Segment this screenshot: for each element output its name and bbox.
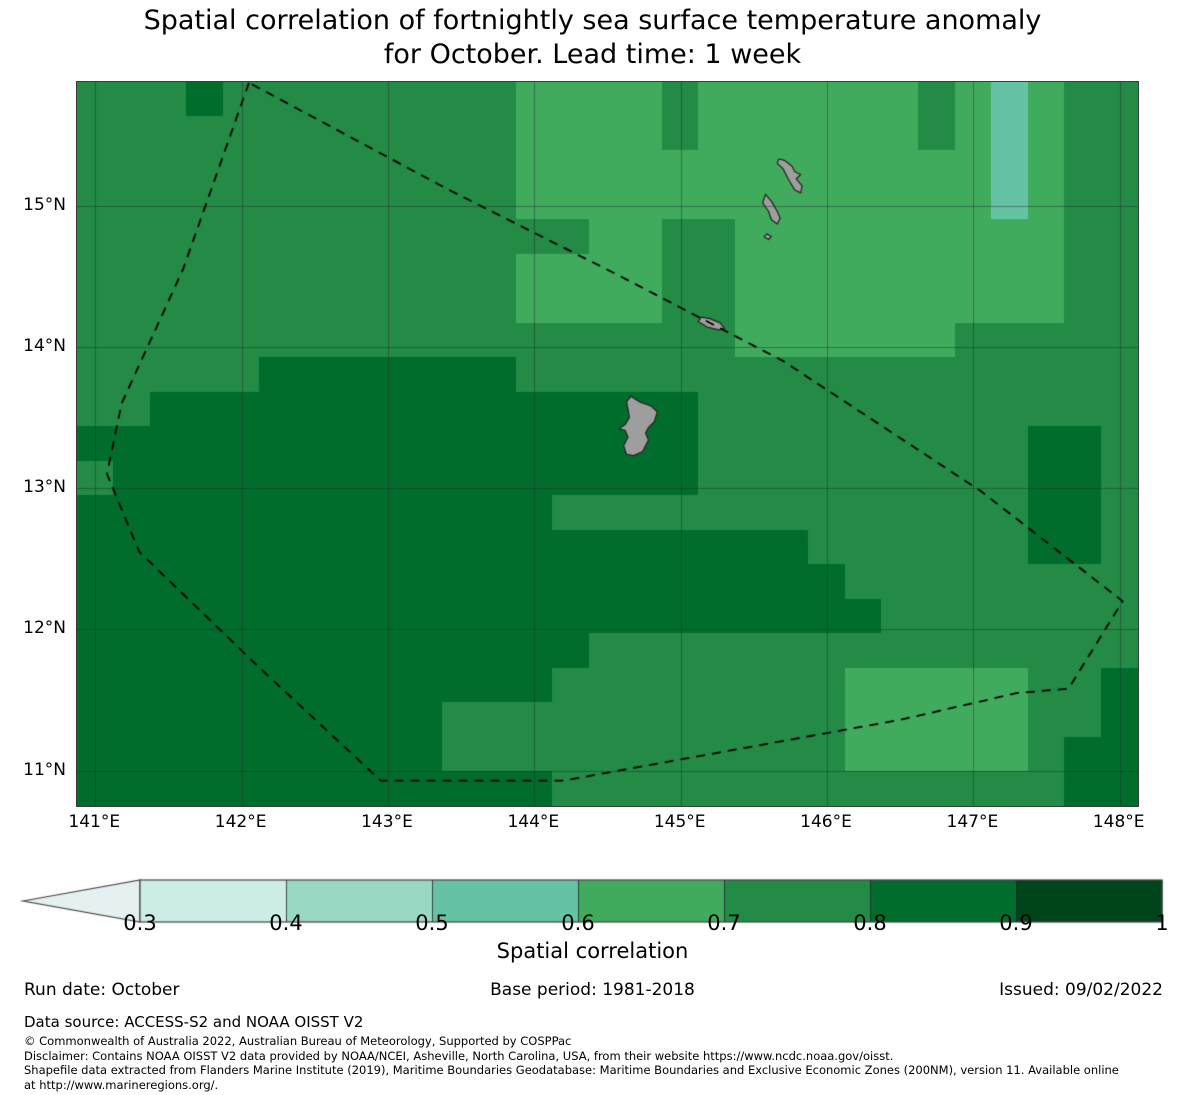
colorbar-tick-1: 1 [1155, 911, 1168, 935]
metadata-row: Run date: October Base period: 1981-2018… [0, 980, 1185, 1010]
colorbar-tick-0.5: 0.5 [415, 911, 448, 935]
colorbar-tick-0.4: 0.4 [269, 911, 302, 935]
y-axis-tick-15°N: 15°N [23, 195, 66, 215]
data-source: Data source: ACCESS-S2 and NOAA OISST V2 [24, 1013, 363, 1031]
x-axis-tick-145°E: 145°E [654, 812, 706, 832]
x-axis-tick-144°E: 144°E [507, 812, 559, 832]
colorbar-tick-0.9: 0.9 [999, 911, 1032, 935]
disclaimer-text: © Commonwealth of Australia 2022, Austra… [24, 1034, 1119, 1092]
y-axis-tick-14°N: 14°N [23, 336, 66, 356]
colorbar[interactable]: 0.30.40.50.60.70.80.91 Spatial correlati… [0, 866, 1185, 966]
colorbar-tick-0.7: 0.7 [707, 911, 740, 935]
map-plot-area[interactable] [76, 81, 1139, 807]
x-axis-tick-142°E: 142°E [215, 812, 267, 832]
x-axis-tick-141°E: 141°E [68, 812, 120, 832]
colorbar-label: Spatial correlation [0, 939, 1185, 963]
x-axis-tick-143°E: 143°E [361, 812, 413, 832]
y-axis-tick-12°N: 12°N [23, 618, 66, 638]
x-axis-tick-148°E: 148°E [1093, 812, 1145, 832]
y-axis-tick-11°N: 11°N [23, 760, 66, 780]
x-axis-tick-147°E: 147°E [947, 812, 999, 832]
y-axis-tick-13°N: 13°N [23, 477, 66, 497]
figure-title: Spatial correlation of fortnightly sea s… [0, 4, 1185, 72]
figure-root: Spatial correlation of fortnightly sea s… [0, 0, 1185, 1095]
colorbar-tick-0.6: 0.6 [561, 911, 594, 935]
x-axis-tick-146°E: 146°E [800, 812, 852, 832]
graticule-grid-layer [77, 82, 1138, 806]
colorbar-tick-0.8: 0.8 [853, 911, 886, 935]
issued-date: Issued: 09/02/2022 [999, 980, 1163, 1000]
colorbar-tick-0.3: 0.3 [123, 911, 156, 935]
